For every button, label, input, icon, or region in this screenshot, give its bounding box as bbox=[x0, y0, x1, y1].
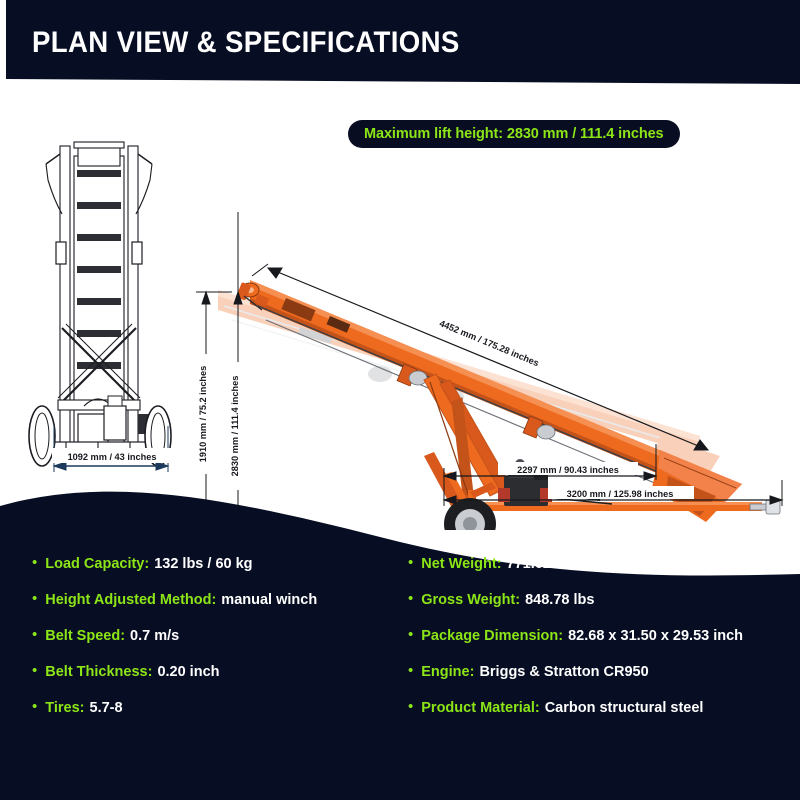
bullet-icon: • bbox=[408, 555, 413, 570]
front-view-drawing bbox=[29, 142, 171, 466]
dim-label-conveyor-length: 4452 mm / 175.28 inches bbox=[438, 318, 540, 368]
callout-label: Maximum lift height: 2830 mm / 111.4 inc… bbox=[364, 126, 664, 142]
bullet-icon: • bbox=[32, 627, 37, 642]
header-banner: PLAN VIEW & SPECIFICATIONS bbox=[6, 0, 800, 84]
bullet-icon: • bbox=[408, 591, 413, 606]
spec-label: Package Dimension: bbox=[421, 628, 563, 644]
bullet-icon: • bbox=[32, 555, 37, 570]
spec-item-engine: • Engine: Briggs & Stratton CR950 bbox=[408, 664, 800, 700]
spec-value: 771.62 lbs bbox=[507, 556, 576, 572]
spec-item-net-weight: • Net Weight: 771.62 lbs bbox=[408, 556, 800, 592]
spec-item-tires: • Tires: 5.7-8 bbox=[32, 700, 400, 736]
spec-label: Net Weight: bbox=[421, 556, 501, 572]
bullet-icon: • bbox=[408, 663, 413, 678]
page-title: PLAN VIEW & SPECIFICATIONS bbox=[32, 26, 460, 60]
spec-column-left: • Load Capacity: 132 lbs / 60 kg • Heigh… bbox=[0, 556, 400, 736]
max-lift-height-callout: Maximum lift height: 2830 mm / 111.4 inc… bbox=[348, 120, 680, 148]
bullet-icon: • bbox=[408, 699, 413, 714]
spec-item-package-dimension: • Package Dimension: 82.68 x 31.50 x 29.… bbox=[408, 628, 800, 664]
spec-item-load-capacity: • Load Capacity: 132 lbs / 60 kg bbox=[32, 556, 400, 592]
spec-label: Height Adjusted Method: bbox=[45, 592, 216, 608]
spec-item-height-adjusted-method: • Height Adjusted Method: manual winch bbox=[32, 592, 400, 628]
spec-value: 0.20 inch bbox=[157, 664, 219, 680]
spec-value: 848.78 lbs bbox=[525, 592, 594, 608]
spec-value: 132 lbs / 60 kg bbox=[154, 556, 252, 572]
spec-label: Tires: bbox=[45, 700, 84, 716]
spec-item-product-material: • Product Material: Carbon structural st… bbox=[408, 700, 800, 736]
spec-list: • Load Capacity: 132 lbs / 60 kg • Heigh… bbox=[0, 556, 800, 736]
spec-label: Engine: bbox=[421, 664, 474, 680]
dim-label-max-lift-height: 2830 mm / 111.4 inches bbox=[230, 376, 240, 477]
spec-value: 82.68 x 31.50 x 29.53 inch bbox=[568, 628, 743, 644]
spec-value: 0.7 m/s bbox=[130, 628, 179, 644]
spec-item-belt-thickness: • Belt Thickness: 0.20 inch bbox=[32, 664, 400, 700]
bullet-icon: • bbox=[32, 591, 37, 606]
dim-conveyor-length bbox=[252, 264, 708, 450]
spec-label: Gross Weight: bbox=[421, 592, 520, 608]
spec-label: Belt Speed: bbox=[45, 628, 125, 644]
spec-value: 5.7-8 bbox=[90, 700, 123, 716]
spec-label: Load Capacity: bbox=[45, 556, 149, 572]
technical-drawing-area: 1092 mm / 43 inches bbox=[0, 84, 800, 530]
specifications-panel: • Load Capacity: 132 lbs / 60 kg • Heigh… bbox=[0, 470, 800, 800]
spec-value: manual winch bbox=[221, 592, 317, 608]
spec-value: Carbon structural steel bbox=[545, 700, 704, 716]
bullet-icon: • bbox=[32, 699, 37, 714]
spec-label: Product Material: bbox=[421, 700, 539, 716]
spec-column-right: • Net Weight: 771.62 lbs • Gross Weight:… bbox=[400, 556, 800, 736]
spec-label: Belt Thickness: bbox=[45, 664, 152, 680]
specification-sheet: PLAN VIEW & SPECIFICATIONS bbox=[0, 0, 800, 800]
dim-label-overall-height-lowered: 1910 mm / 75.2 inches bbox=[198, 366, 208, 463]
dim-label-front-view-width: 1092 mm / 43 inches bbox=[68, 452, 157, 462]
spec-value: Briggs & Stratton CR950 bbox=[479, 664, 648, 680]
spec-item-belt-speed: • Belt Speed: 0.7 m/s bbox=[32, 628, 400, 664]
bullet-icon: • bbox=[408, 627, 413, 642]
spec-item-gross-weight: • Gross Weight: 848.78 lbs bbox=[408, 592, 800, 628]
bullet-icon: • bbox=[32, 663, 37, 678]
